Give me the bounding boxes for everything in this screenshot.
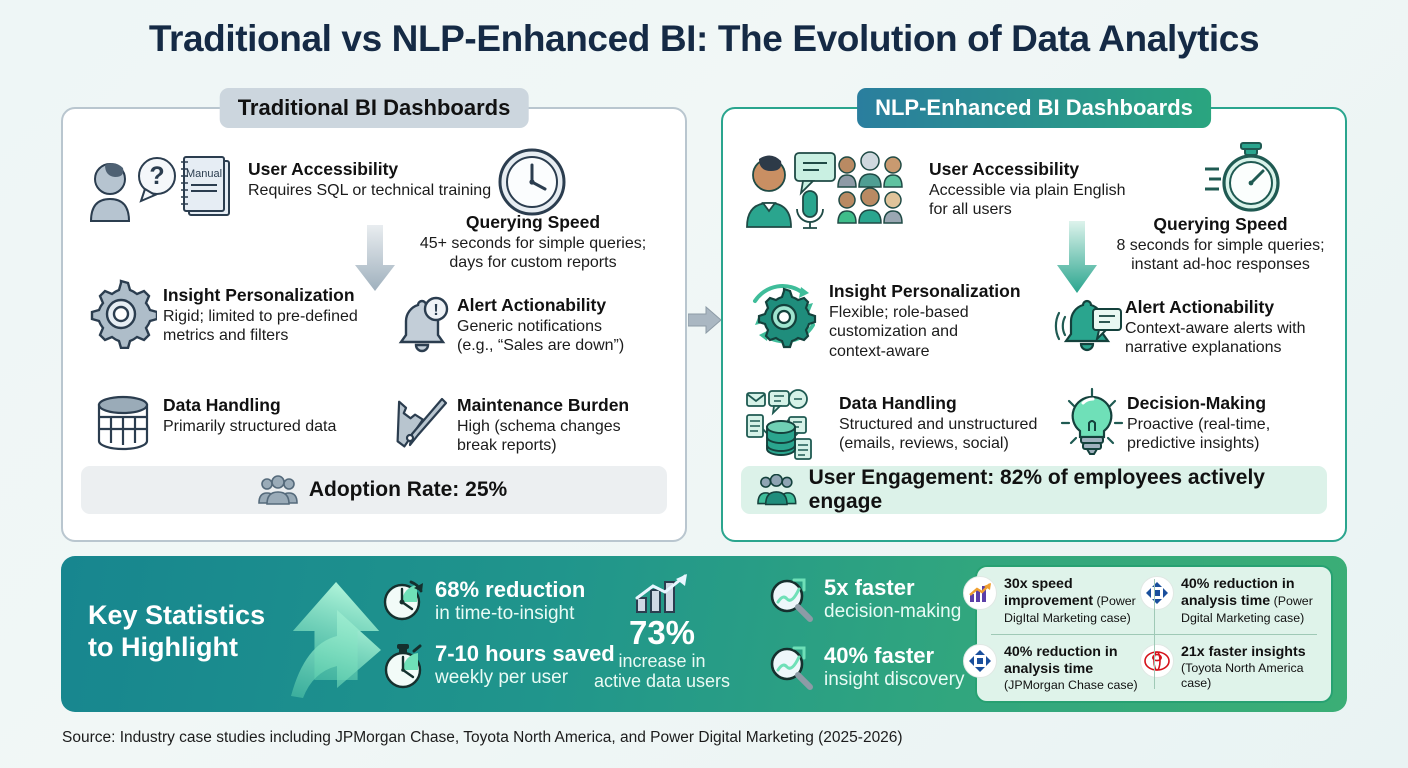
case-study-item: 21x faster insights (Toyota North Americ… xyxy=(1154,635,1331,703)
svg-text:?: ? xyxy=(149,162,164,190)
user-engagement-label: User Engagement: 82% of employees active… xyxy=(809,466,1327,514)
feature-detail: Requires SQL or technical training xyxy=(248,181,528,200)
stat-value: 73% xyxy=(592,616,732,649)
ribbon-stat-68-reduction: 68% reduction in time-to-insight xyxy=(381,578,585,625)
feature-heading: Maintenance Burden xyxy=(457,395,629,415)
lightbulb-icon xyxy=(1059,387,1125,457)
ribbon-title: Key Statistics to Highlight xyxy=(88,600,265,664)
nlp-feature-alert-actionability: Alert Actionability Context-aware alerts… xyxy=(1125,295,1340,358)
feature-heading: Querying Speed xyxy=(1098,214,1343,234)
stat-label: increase in active data users xyxy=(592,651,732,691)
magnifier-trend-icon xyxy=(766,576,814,624)
stat-value: 7-10 hours saved xyxy=(435,642,615,666)
feature-heading: Querying Speed xyxy=(388,212,678,232)
jpmorgan-chase-logo-icon xyxy=(1140,576,1174,610)
bell-alert-icon: ! xyxy=(390,293,454,357)
feature-heading: Alert Actionability xyxy=(1125,297,1306,317)
feature-heading: User Accessibility xyxy=(929,159,1126,179)
ribbon-stat-hours-saved: 7-10 hours saved weekly per user xyxy=(381,642,615,690)
nlp-panel: NLP-Enhanced BI Dashboards xyxy=(721,107,1347,542)
case-study-item: 30x speed improvement (Power DigItal Mar… xyxy=(977,567,1154,635)
ribbon-stat-5x-faster: 5x faster decision-making xyxy=(766,576,961,624)
feature-detail: Rigid; limited to pre-defined metrics an… xyxy=(163,307,358,345)
stat-value: 5x faster xyxy=(824,576,961,600)
jpmorgan-chase-logo-icon xyxy=(963,644,997,678)
up-arrow-icon xyxy=(289,582,389,700)
feature-detail: Proactive (real-time, predictive insight… xyxy=(1127,415,1270,453)
traditional-feature-insight-personalization: Insight Personalization Rigid; limited t… xyxy=(163,283,413,346)
growth-chart-icon xyxy=(631,572,693,616)
feature-detail: Accessible via plain English for all use… xyxy=(929,181,1126,219)
magnifier-trend-icon xyxy=(766,644,814,692)
case-source: (Toyota North America case) xyxy=(1181,661,1304,690)
nlp-panel-badge: NLP-Enhanced BI Dashboards xyxy=(857,88,1211,128)
traditional-panel-badge: Traditional BI Dashboards xyxy=(220,88,529,128)
traditional-feature-querying-speed: Querying Speed 45+ seconds for simple qu… xyxy=(388,212,678,273)
feature-detail: Context-aware alerts with narrative expl… xyxy=(1125,319,1306,357)
people-group-icon xyxy=(757,474,798,506)
database-documents-chat-icon xyxy=(745,389,831,461)
svg-text:!: ! xyxy=(433,302,438,319)
nlp-feature-decision-making: Decision-Making Proactive (real-time, pr… xyxy=(1127,391,1342,454)
feature-detail: Primarily structured data xyxy=(163,417,336,436)
stat-label: decision-making xyxy=(824,601,961,623)
feature-detail: Structured and unstructured (emails, rev… xyxy=(839,415,1037,453)
people-chat-microphone-icon xyxy=(739,147,917,229)
page-title: Traditional vs NLP-Enhanced BI: The Evol… xyxy=(0,18,1408,60)
ribbon-title-line2: to Highlight xyxy=(88,632,265,664)
feature-detail: Flexible; role-based customization and c… xyxy=(829,303,1021,361)
toyota-logo-icon xyxy=(1140,644,1174,678)
nlp-engagement-bar: User Engagement: 82% of employees active… xyxy=(741,466,1327,514)
source-note: Source: Industry case studies including … xyxy=(62,729,903,747)
clock-arrow-icon xyxy=(381,578,425,622)
stopwatch-icon xyxy=(381,642,425,690)
stat-label: in time-to-insight xyxy=(435,603,585,625)
traditional-feature-alert-actionability: Alert Actionability Generic notification… xyxy=(457,293,687,356)
stopwatch-icon xyxy=(1201,141,1283,219)
feature-heading: Data Handling xyxy=(839,393,1037,413)
feature-detail: 8 seconds for simple queries; instant ad… xyxy=(1098,236,1343,274)
case-study-item: 40% reduction in analysis time (JPMorgan… xyxy=(977,635,1154,703)
traditional-feature-data-handling: Data Handling Primarily structured data xyxy=(163,393,393,436)
traditional-panel: Traditional BI Dashboards User Accessibi… xyxy=(61,107,687,542)
traditional-feature-maintenance-burden: Maintenance Burden High (schema changes … xyxy=(457,393,687,456)
transition-arrow-icon xyxy=(688,305,722,335)
feature-heading: Insight Personalization xyxy=(829,281,1021,301)
case-headline: 21x faster insights xyxy=(1181,644,1306,660)
feature-heading: Insight Personalization xyxy=(163,285,358,305)
bell-message-icon xyxy=(1053,295,1125,361)
feature-detail: Generic notifications (e.g., “Sales are … xyxy=(457,317,624,355)
feature-detail: 45+ seconds for simple queries; days for… xyxy=(388,234,678,272)
adoption-rate-label: Adoption Rate: 25% xyxy=(309,478,507,502)
wrench-screwdriver-icon xyxy=(390,391,454,455)
ribbon-stat-73-increase: 73% increase in active data users xyxy=(592,572,732,691)
gear-icon xyxy=(85,277,157,349)
clock-icon xyxy=(495,145,569,219)
database-icon xyxy=(91,391,155,455)
svg-text:Manual: Manual xyxy=(186,168,222,180)
user-question-manual-icon-art: ? Manual xyxy=(83,151,233,223)
infographic-root: Traditional vs NLP-Enhanced BI: The Evol… xyxy=(0,0,1408,768)
nlp-feature-user-accessibility: User Accessibility Accessible via plain … xyxy=(929,157,1189,220)
case-study-item: 40% reduction in analysis time (Power Dg… xyxy=(1154,567,1331,635)
feature-heading: User Accessibility xyxy=(248,159,528,179)
case-source: (JPMorgan Chase case) xyxy=(1004,678,1138,692)
stat-value: 40% faster xyxy=(824,644,964,668)
traditional-adoption-bar: Adoption Rate: 25% xyxy=(81,466,667,514)
people-group-icon xyxy=(258,475,298,505)
case-headline: 30x speed improvement xyxy=(1004,576,1093,609)
stat-value: 68% reduction xyxy=(435,578,585,602)
nlp-feature-insight-personalization: Insight Personalization Flexible; role-b… xyxy=(829,279,1084,361)
ribbon-stat-40-faster: 40% faster insight discovery xyxy=(766,644,964,692)
feature-heading: Data Handling xyxy=(163,395,336,415)
case-divider-horizontal xyxy=(991,634,1317,635)
feature-heading: Alert Actionability xyxy=(457,295,624,315)
feature-detail: High (schema changes break reports) xyxy=(457,417,629,455)
case-studies-box: 30x speed improvement (Power DigItal Mar… xyxy=(975,565,1333,703)
feature-heading: Decision-Making xyxy=(1127,393,1270,413)
bar-chart-badge-icon xyxy=(963,576,997,610)
case-headline: 40% reduction in analysis time xyxy=(1004,644,1118,677)
nlp-feature-querying-speed: Querying Speed 8 seconds for simple quer… xyxy=(1098,214,1343,275)
gear-cycle-icon xyxy=(743,273,825,355)
stat-label: weekly per user xyxy=(435,667,615,689)
ribbon-title-line1: Key Statistics xyxy=(88,600,265,632)
stat-label: insight discovery xyxy=(824,669,964,691)
